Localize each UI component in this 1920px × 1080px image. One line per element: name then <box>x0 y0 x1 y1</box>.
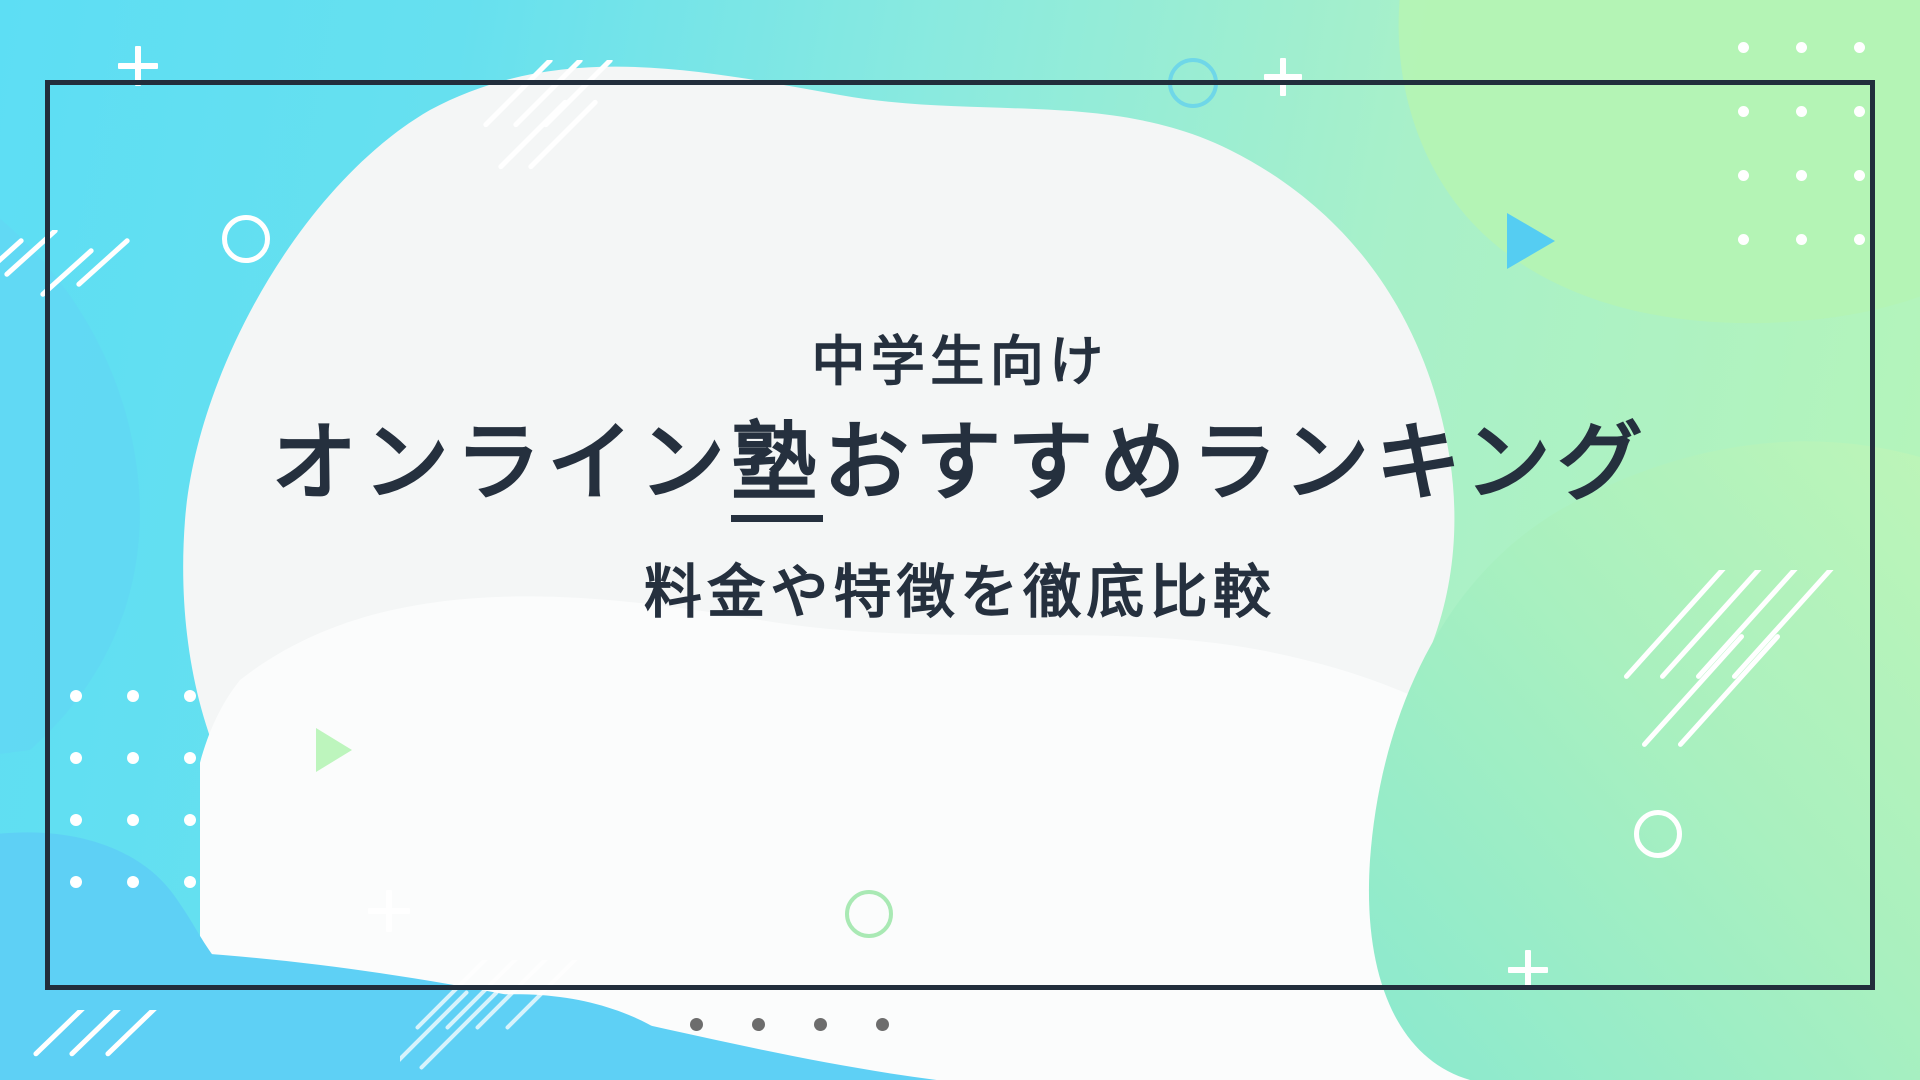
headline-underlined-word: 塾 <box>731 413 823 522</box>
slide-canvas: 中学生向け オンライン塾おすすめランキング 料金や特徴を徹底比較 <box>0 0 1920 1080</box>
eyebrow-text: 中学生向け <box>0 330 1920 395</box>
headline-part-2: おすすめランキング <box>823 413 1649 513</box>
blue-blob-bottom-band <box>0 930 1280 1080</box>
page-title: オンライン塾おすすめランキング <box>0 413 1920 514</box>
title-group: 中学生向け オンライン塾おすすめランキング 料金や特徴を徹底比較 <box>0 330 1920 628</box>
headline-part-1: オンライン <box>271 413 731 513</box>
subtitle-text: 料金や特徴を徹底比較 <box>0 558 1920 628</box>
green-blob-top-right <box>1290 0 1920 360</box>
